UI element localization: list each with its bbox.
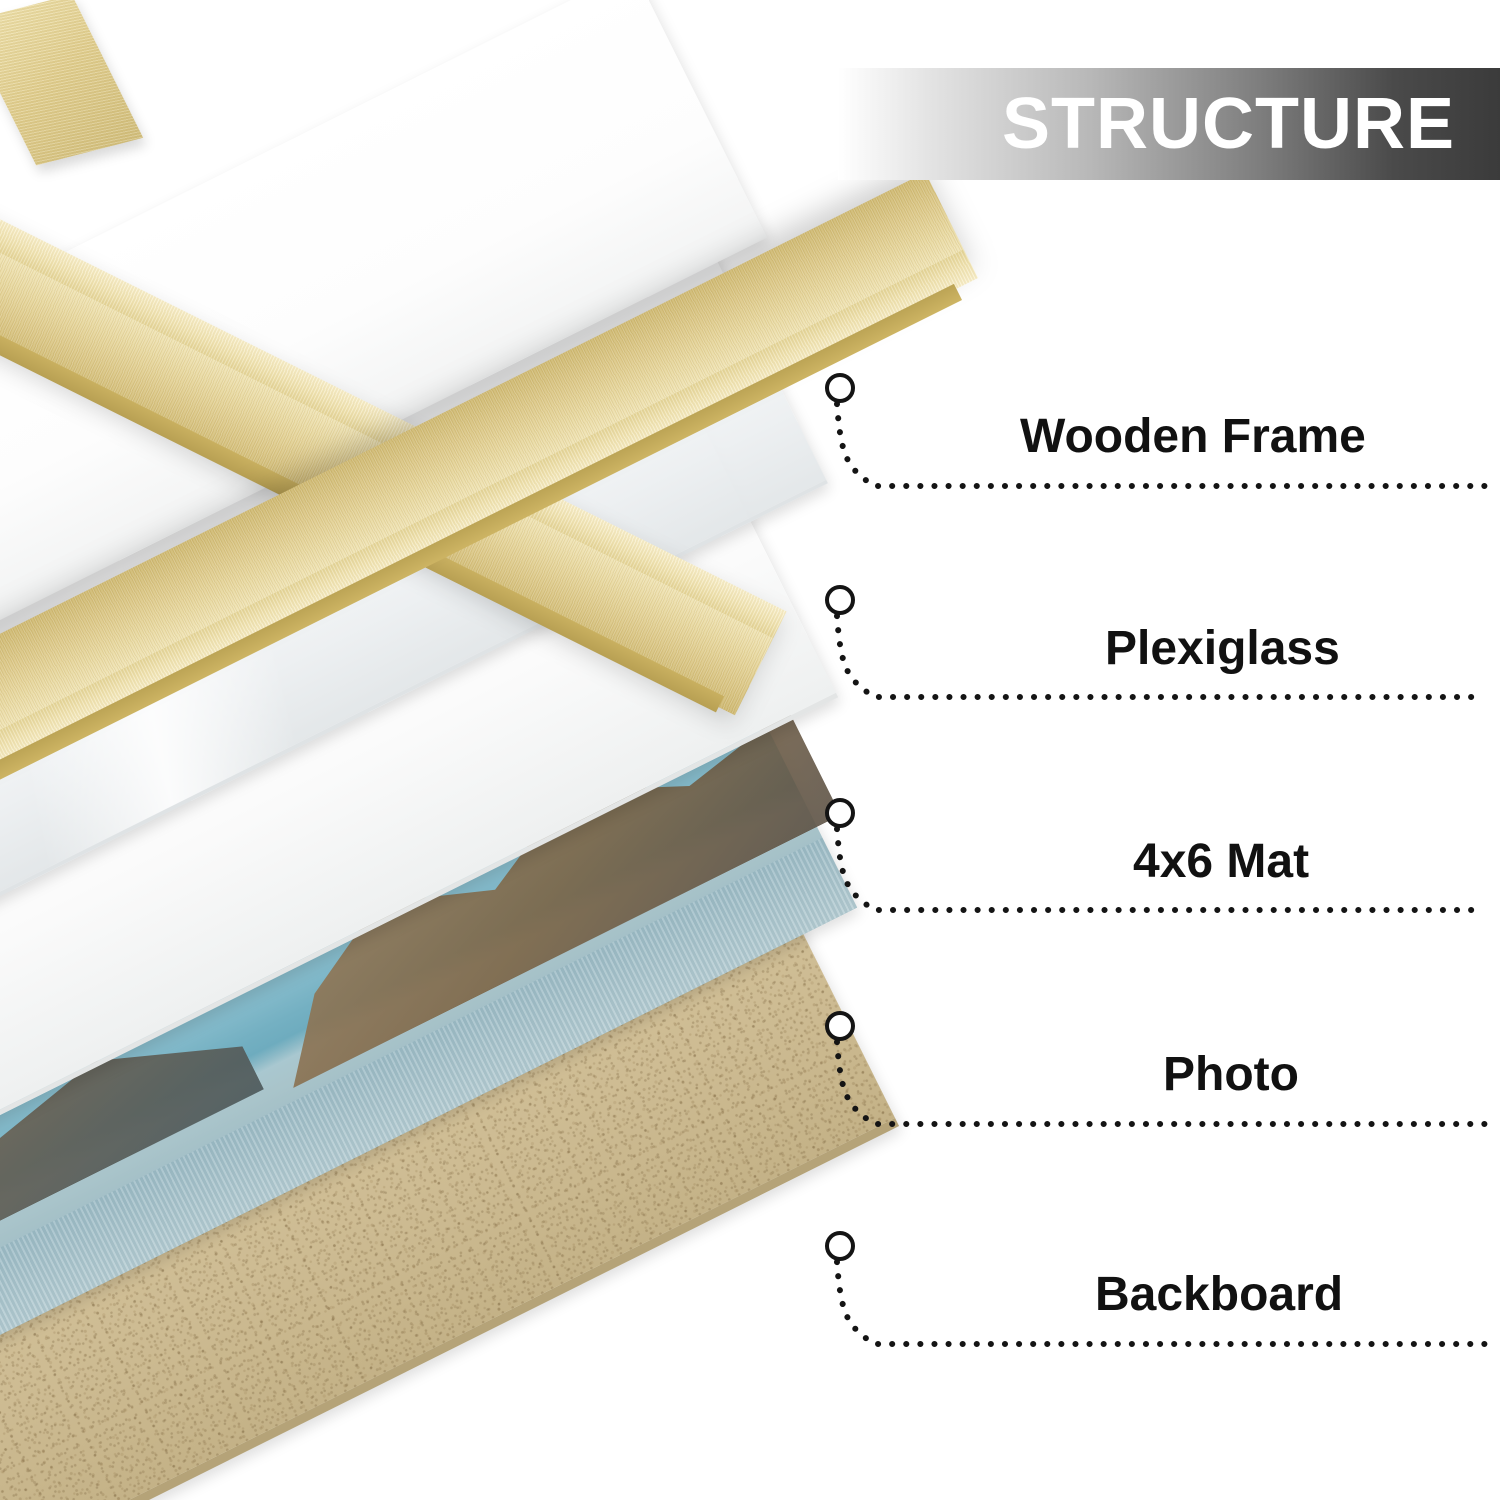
infographic-canvas: STRUCTURE Wooden FramePlexiglass4x6 MatP… [0,0,1500,1500]
callout-marker-wooden-frame[interactable] [825,373,855,403]
callout-marker-photo[interactable] [825,1011,855,1041]
callout-marker-mat[interactable] [825,798,855,828]
callout-layer: Wooden FramePlexiglass4x6 MatPhotoBackbo… [0,0,1500,1500]
callout-label-photo: Photo [1163,1051,1299,1099]
callout-label-backboard: Backboard [1095,1271,1343,1319]
callout-label-wooden-frame: Wooden Frame [1020,413,1366,461]
callout-label-mat: 4x6 Mat [1133,838,1309,886]
callout-marker-backboard[interactable] [825,1231,855,1261]
callout-label-plexiglass: Plexiglass [1105,625,1340,673]
callout-marker-plexiglass[interactable] [825,585,855,615]
